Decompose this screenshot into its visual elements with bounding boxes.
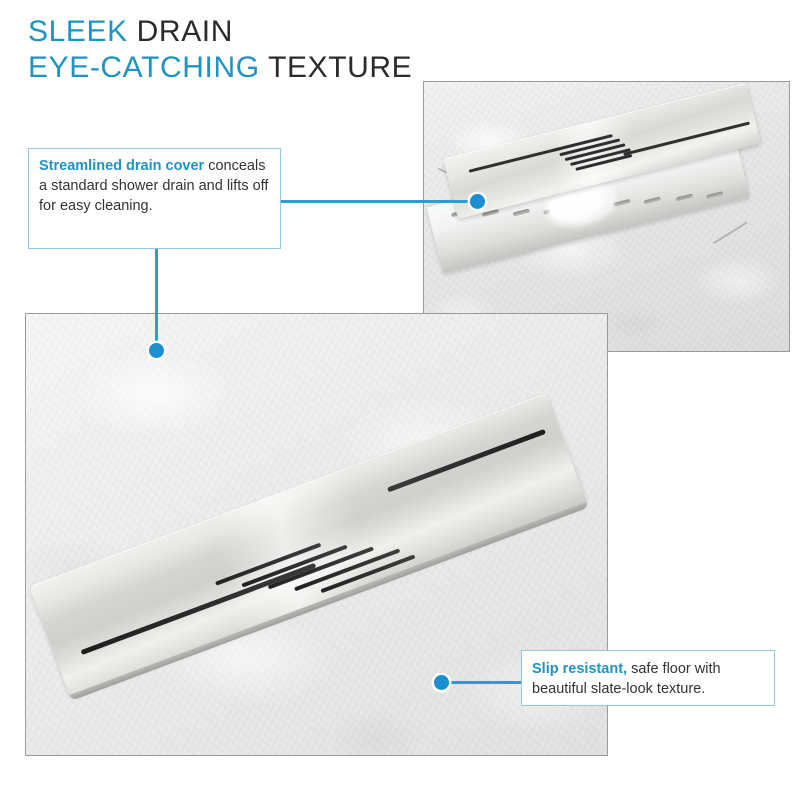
callout-2-bold: Slip resistant, (532, 661, 627, 677)
callout-leader-line (448, 681, 522, 684)
exploded-drain-assembly (424, 82, 789, 351)
marketing-image: SLEEK DRAIN EYE-CATCHING TEXTURE (0, 0, 800, 800)
headline-line-1: SLEEK DRAIN (28, 14, 548, 50)
headline-accent-sleek: SLEEK (28, 15, 128, 48)
page-title: SLEEK DRAIN EYE-CATCHING TEXTURE (28, 14, 548, 86)
callout-leader-dot (434, 675, 449, 690)
headline-rest-texture: TEXTURE (260, 51, 413, 84)
callout-leader-line (155, 249, 158, 350)
callout-leader-dot (470, 194, 485, 209)
headline-rest-drain: DRAIN (128, 15, 233, 48)
callout-slip-resistant: Slip resistant, safe floor with beautifu… (521, 650, 775, 706)
photo-drain-cover-exploded (423, 81, 790, 352)
callout-1-bold: Streamlined drain cover (39, 158, 204, 174)
callout-leader-line (281, 200, 477, 203)
callout-leader-dot (149, 343, 164, 358)
headline-accent-eye-catching: EYE-CATCHING (28, 51, 260, 84)
callout-streamlined-drain-cover: Streamlined drain cover conceals a stand… (28, 148, 281, 249)
bracket-wire (713, 222, 748, 244)
